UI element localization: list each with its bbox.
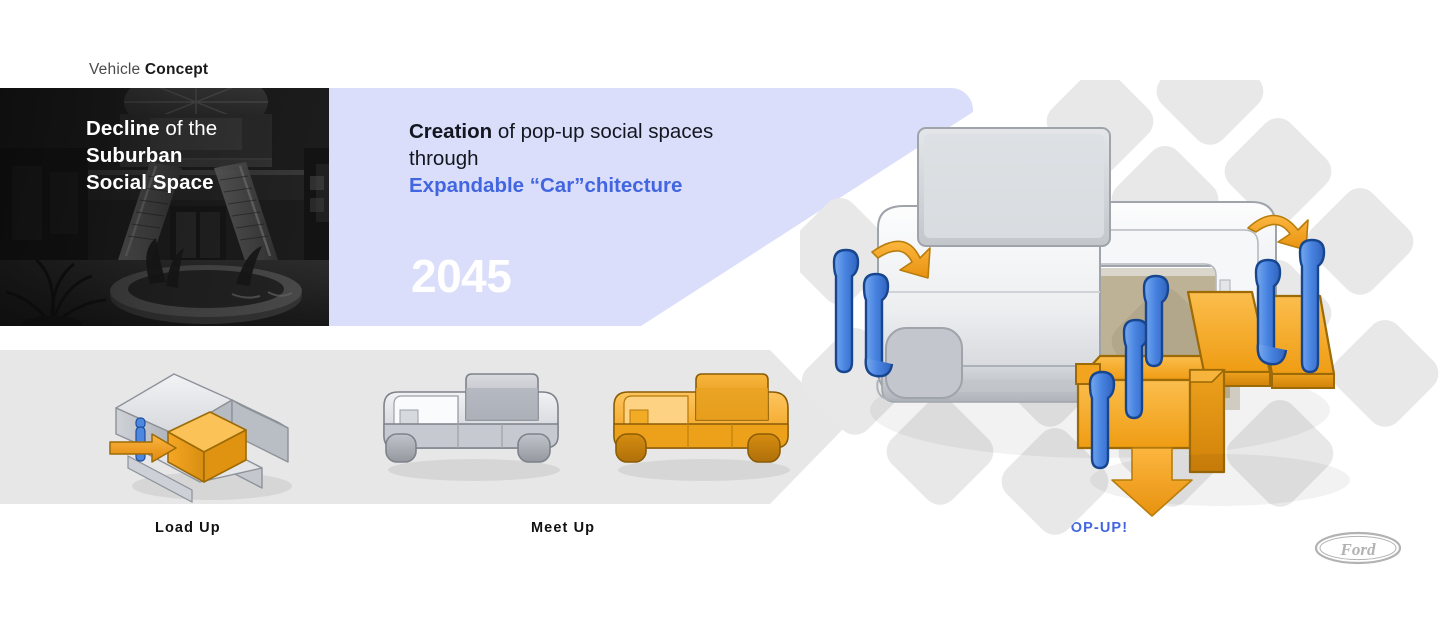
creation-heading-line2: through bbox=[409, 147, 479, 170]
slide-canvas: Vehicle Concept bbox=[0, 0, 1440, 617]
decline-heading-rest: of the bbox=[160, 117, 218, 140]
step-label-meet-up: Meet Up bbox=[531, 520, 595, 536]
eyebrow-bold-text: Concept bbox=[145, 61, 208, 78]
grey-sofa-vehicle-isometric bbox=[362, 366, 582, 486]
popup-vehicle-scene bbox=[800, 80, 1440, 560]
step-label-load-up: Load Up bbox=[155, 520, 221, 536]
ford-wordmark: Ford bbox=[1340, 540, 1376, 559]
decline-heading-bold: Decline bbox=[86, 117, 160, 140]
creation-heading-rest: of pop-up social spaces bbox=[492, 120, 713, 143]
era-label-2045: 2045 bbox=[411, 253, 511, 299]
creation-accent-line: Expandable “Car”chitecture bbox=[409, 172, 829, 199]
ford-logo: Ford bbox=[1314, 531, 1402, 565]
page-title: Vehicle Concept bbox=[89, 61, 208, 79]
sofa-module-loading-isometric bbox=[82, 356, 312, 506]
decline-photo-panel: Decline of the Suburban Social Space TOD… bbox=[0, 88, 368, 326]
creation-heading: Creation of pop-up social spaces through… bbox=[409, 118, 829, 199]
orange-sofa-vehicle-isometric bbox=[592, 366, 812, 486]
creation-heading-bold: Creation bbox=[409, 120, 492, 143]
decline-heading-line3: Social Space bbox=[86, 171, 214, 194]
eyebrow-light-text: Vehicle bbox=[89, 61, 145, 78]
decline-heading: Decline of the Suburban Social Space bbox=[86, 115, 366, 196]
decline-heading-line2: Suburban bbox=[86, 144, 182, 167]
